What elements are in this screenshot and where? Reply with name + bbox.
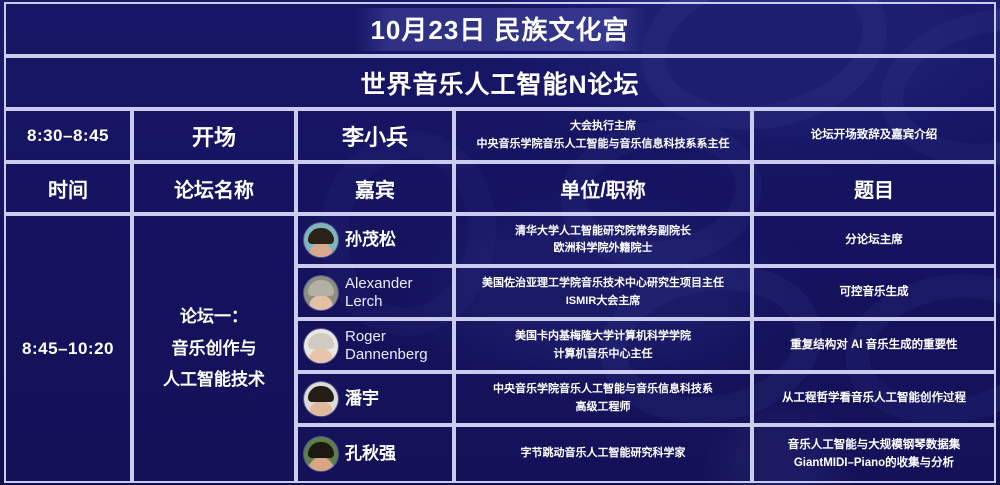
guest-row: Roger Dannenberg 美国卡内基梅隆大学计算机科学学院 计算机音乐中…: [296, 319, 996, 372]
session-forum-cell: 论坛一： 音乐创作与 人工智能技术: [132, 214, 296, 483]
col-header-time-text: 时间: [48, 174, 88, 203]
opening-guest-text: 李小兵: [342, 120, 408, 152]
guest-name-cell: 潘宇: [296, 372, 454, 425]
guest-org-block: 美国佐治亚理工学院音乐技术中心研究生项目主任 ISMIR大会主席: [456, 275, 750, 309]
guest-name-cell: Alexander Lerch: [296, 266, 454, 319]
opening-org-line1: 大会执行主席: [477, 118, 730, 135]
col-header-topic: 题目: [752, 162, 996, 214]
guest-name-text: 孙茂松: [345, 230, 396, 250]
guest-topic-block: 可控音乐生成: [754, 283, 994, 301]
opening-time-text: 8:30–8:45: [27, 126, 109, 146]
col-header-time: 时间: [4, 162, 132, 214]
guest-topic-cell: 音乐人工智能与大规模钢琴数据集 GiantMIDI–Piano的收集与分析: [752, 425, 996, 483]
guest-topic-block: 重复结构对 AI 音乐生成的重要性: [754, 336, 994, 354]
guest-topic-block: 音乐人工智能与大规模钢琴数据集 GiantMIDI–Piano的收集与分析: [754, 436, 994, 473]
guest-name-text: Alexander Lerch: [345, 275, 413, 310]
header-forum-title-text: 世界音乐人工智能N论坛: [360, 65, 639, 101]
guest-name-text: 潘宇: [345, 389, 379, 409]
opening-forum-text: 开场: [192, 120, 236, 152]
header-date-venue-cell: 10月23日 民族文化宫: [4, 2, 996, 56]
guest-org-cell: 清华大学人工智能研究院常务副院长 欧洲科学院外籍院士: [454, 214, 752, 266]
guest-org-block: 中央音乐学院音乐人工智能与音乐信息科技系 高级工程师: [456, 381, 750, 415]
opening-topic-cell: 论坛开场致辞及嘉宾介绍: [752, 109, 996, 162]
col-header-org-title: 单位/职称: [454, 162, 752, 214]
guest-org-block: 清华大学人工智能研究院常务副院长 欧洲科学院外籍院士: [456, 223, 750, 257]
opening-forum-cell: 开场: [132, 109, 296, 162]
guest-topic-block: 从工程哲学看音乐人工智能创作过程: [754, 389, 994, 407]
avatar: [304, 329, 338, 363]
opening-org-cell: 大会执行主席 中央音乐学院音乐人工智能与音乐信息科技系系主任: [454, 109, 752, 162]
guest-topic-line1: 重复结构对 AI 音乐生成的重要性: [754, 336, 994, 354]
guest-row: Alexander Lerch 美国佐治亚理工学院音乐技术中心研究生项目主任 I…: [296, 266, 996, 319]
session-forum-block: 论坛一： 音乐创作与 人工智能技术: [163, 301, 265, 395]
col-header-forum-name: 论坛名称: [132, 162, 296, 214]
guest-topic-cell: 从工程哲学看音乐人工智能创作过程: [752, 372, 996, 425]
guest-name-cell: Roger Dannenberg: [296, 319, 454, 372]
guest-org-line2: ISMIR大会主席: [456, 293, 750, 310]
session-forum-line2: 音乐创作与: [163, 333, 265, 364]
opening-row: 8:30–8:45 开场 李小兵 大会执行主席 中央音乐学院音乐人工智能与音乐信…: [4, 109, 996, 162]
opening-topic-text: 论坛开场致辞及嘉宾介绍: [811, 126, 938, 144]
session-time-cell: 8:45–10:20: [4, 214, 132, 483]
guest-name-text: 孔秋强: [345, 444, 396, 464]
column-header-row: 时间 论坛名称 嘉宾 单位/职称 题目: [4, 162, 996, 214]
header-forum-title-cell: 世界音乐人工智能N论坛: [4, 56, 996, 109]
guest-topic-cell: 可控音乐生成: [752, 266, 996, 319]
guest-org-line1: 中央音乐学院音乐人工智能与音乐信息科技系: [456, 381, 750, 398]
guest-row: 孙茂松 清华大学人工智能研究院常务副院长 欧洲科学院外籍院士 分论坛主席: [296, 214, 996, 266]
guest-org-line1: 清华大学人工智能研究院常务副院长: [456, 223, 750, 240]
opening-org-block: 大会执行主席 中央音乐学院音乐人工智能与音乐信息科技系系主任: [477, 118, 730, 152]
guest-row: 孔秋强 字节跳动音乐人工智能研究科学家 音乐人工智能与大规模钢琴数据集 Gian…: [296, 425, 996, 483]
session-forum-line1: 论坛一：: [163, 301, 265, 332]
guest-topic-block: 分论坛主席: [754, 231, 994, 249]
guest-topic-line2: GiantMIDI–Piano的收集与分析: [754, 454, 994, 472]
guest-org-line2: 高级工程师: [456, 399, 750, 416]
guest-org-cell: 美国卡内基梅隆大学计算机科学学院 计算机音乐中心主任: [454, 319, 752, 372]
guest-org-line1: 美国佐治亚理工学院音乐技术中心研究生项目主任: [456, 275, 750, 292]
col-header-guest-text: 嘉宾: [355, 174, 395, 203]
avatar: [304, 276, 338, 310]
col-header-topic-text: 题目: [854, 174, 894, 203]
guest-topic-cell: 分论坛主席: [752, 214, 996, 266]
guest-org-line2: 计算机音乐中心主任: [456, 346, 750, 363]
guest-org-line1: 字节跳动音乐人工智能研究科学家: [456, 445, 750, 462]
guest-org-block: 字节跳动音乐人工智能研究科学家: [456, 445, 750, 462]
guest-topic-line1: 从工程哲学看音乐人工智能创作过程: [754, 389, 994, 407]
guest-topic-line1: 可控音乐生成: [754, 283, 994, 301]
avatar: [304, 223, 338, 257]
opening-org-line2: 中央音乐学院音乐人工智能与音乐信息科技系系主任: [477, 136, 730, 153]
header-date-venue-text: 10月23日 民族文化宫: [354, 8, 645, 51]
guest-name-text: Roger Dannenberg: [345, 328, 428, 363]
guest-org-cell: 字节跳动音乐人工智能研究科学家: [454, 425, 752, 483]
avatar: [304, 382, 338, 416]
session-time-text: 8:45–10:20: [22, 339, 114, 359]
opening-guest-cell: 李小兵: [296, 109, 454, 162]
guest-topic-line1: 音乐人工智能与大规模钢琴数据集: [754, 436, 994, 454]
guest-org-line1: 美国卡内基梅隆大学计算机科学学院: [456, 328, 750, 345]
schedule-table: 10月23日 民族文化宫 世界音乐人工智能N论坛 8:30–8:45 开场 李小…: [4, 2, 996, 483]
col-header-org-title-text: 单位/职称: [560, 174, 646, 203]
guest-org-block: 美国卡内基梅隆大学计算机科学学院 计算机音乐中心主任: [456, 328, 750, 362]
opening-time-cell: 8:30–8:45: [4, 109, 132, 162]
slide-canvas: 10月23日 民族文化宫 世界音乐人工智能N论坛 8:30–8:45 开场 李小…: [0, 0, 1000, 485]
guest-name-cell: 孙茂松: [296, 214, 454, 266]
guest-row: 潘宇 中央音乐学院音乐人工智能与音乐信息科技系 高级工程师 从工程哲学看音乐人工…: [296, 372, 996, 425]
session-row: 8:45–10:20 论坛一： 音乐创作与 人工智能技术: [4, 214, 996, 483]
guest-name-cell: 孔秋强: [296, 425, 454, 483]
guest-org-cell: 中央音乐学院音乐人工智能与音乐信息科技系 高级工程师: [454, 372, 752, 425]
guest-topic-cell: 重复结构对 AI 音乐生成的重要性: [752, 319, 996, 372]
col-header-forum-name-text: 论坛名称: [174, 174, 254, 203]
guest-org-line2: 欧洲科学院外籍院士: [456, 240, 750, 257]
session-forum-line3: 人工智能技术: [163, 364, 265, 395]
col-header-guest: 嘉宾: [296, 162, 454, 214]
avatar: [304, 437, 338, 471]
guest-org-cell: 美国佐治亚理工学院音乐技术中心研究生项目主任 ISMIR大会主席: [454, 266, 752, 319]
session-guest-list: 孙茂松 清华大学人工智能研究院常务副院长 欧洲科学院外籍院士 分论坛主席: [296, 214, 996, 483]
guest-topic-line1: 分论坛主席: [754, 231, 994, 249]
